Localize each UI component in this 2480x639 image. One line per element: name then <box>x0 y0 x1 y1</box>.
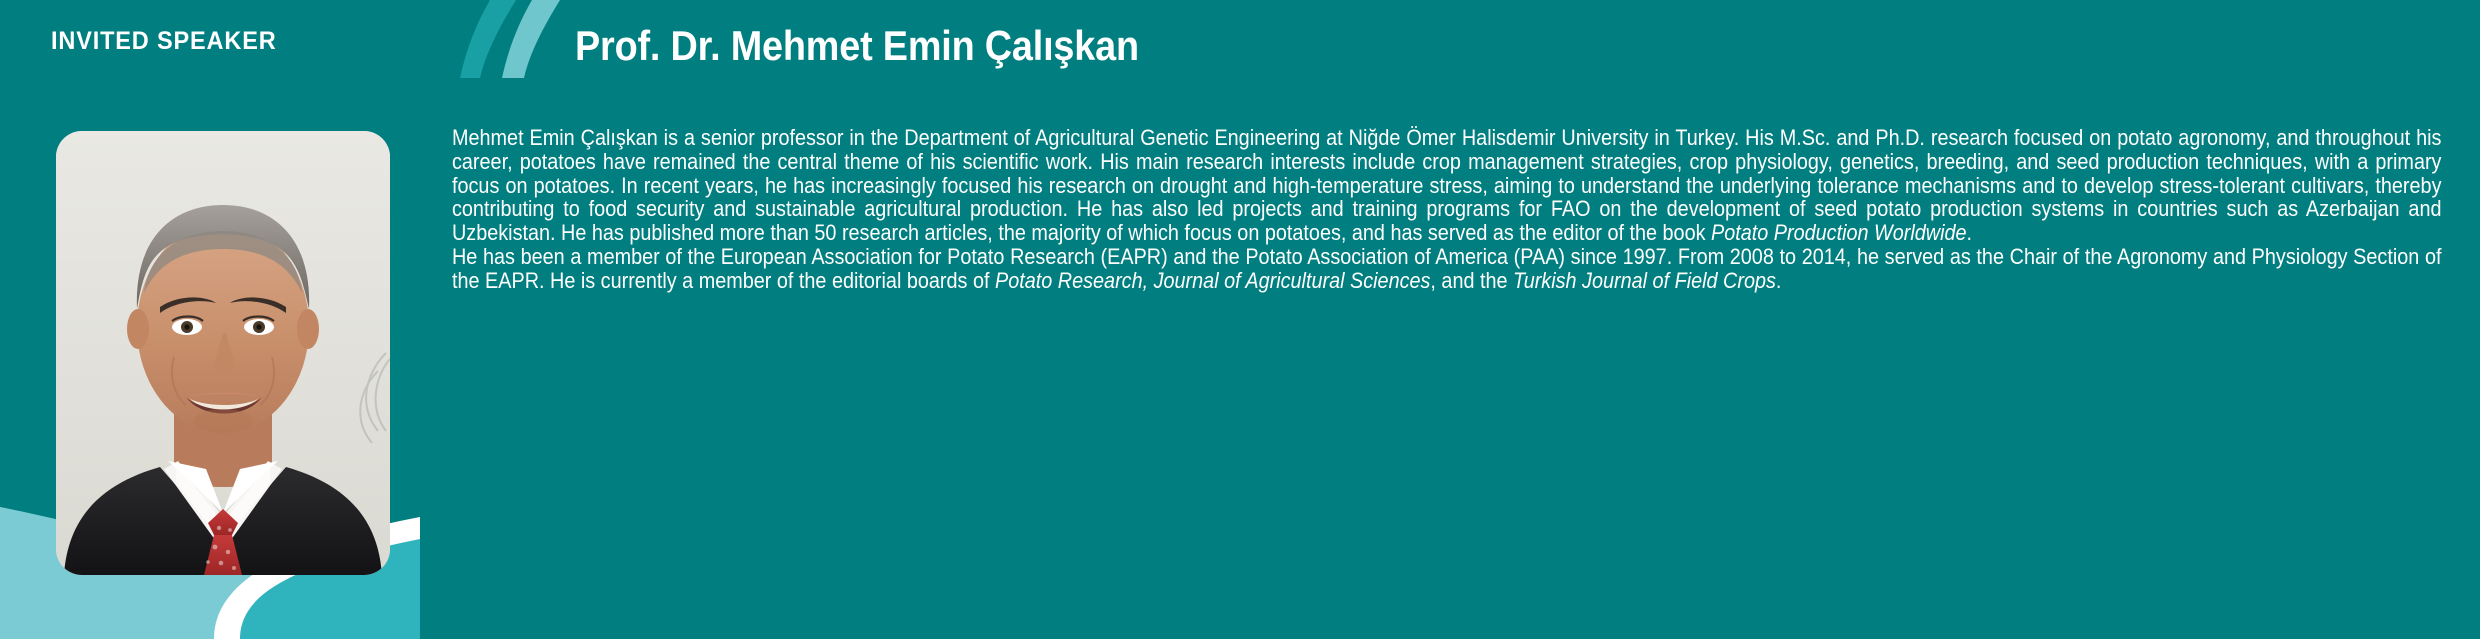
double-slash-quote-icon <box>460 0 570 78</box>
speaker-name-title: Prof. Dr. Mehmet Emin Çalışkan <box>575 22 1139 69</box>
bio-paragraph-2: He has been a member of the European Ass… <box>452 245 2441 293</box>
bio-paragraph-1: Mehmet Emin Çalışkan is a senior profess… <box>452 126 2441 245</box>
invited-speaker-banner: INVITED SPEAKER <box>0 0 2480 639</box>
speaker-biography: Mehmet Emin Çalışkan is a senior profess… <box>452 126 2441 293</box>
speaker-photo <box>56 131 390 575</box>
invited-speaker-kicker: INVITED SPEAKER <box>51 29 371 54</box>
